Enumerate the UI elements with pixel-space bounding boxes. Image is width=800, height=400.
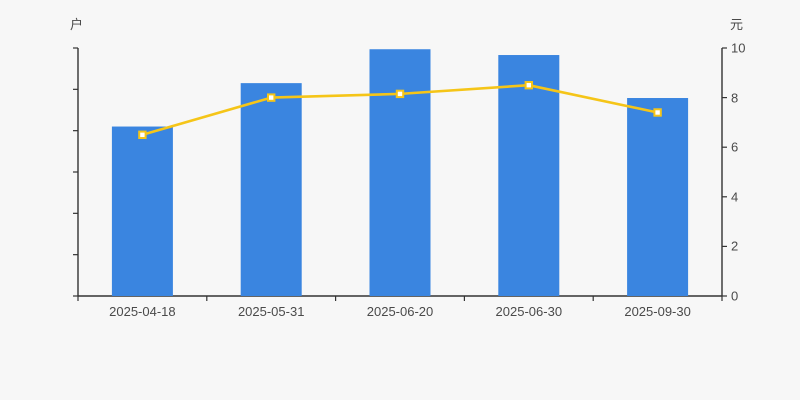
line-marker[interactable] xyxy=(268,94,274,100)
bar[interactable] xyxy=(370,49,431,296)
line-marker[interactable] xyxy=(139,132,145,138)
line-marker[interactable] xyxy=(526,82,532,88)
bar[interactable] xyxy=(627,98,688,296)
bar[interactable] xyxy=(498,55,559,296)
bar[interactable] xyxy=(112,127,173,296)
chart-plot-area xyxy=(0,0,800,400)
line-marker[interactable] xyxy=(654,109,660,115)
line-marker[interactable] xyxy=(397,91,403,97)
bar[interactable] xyxy=(241,83,302,296)
stock-holders-chart: 户 元 010,00020,00030,00040,00050,00060,00… xyxy=(0,0,800,400)
